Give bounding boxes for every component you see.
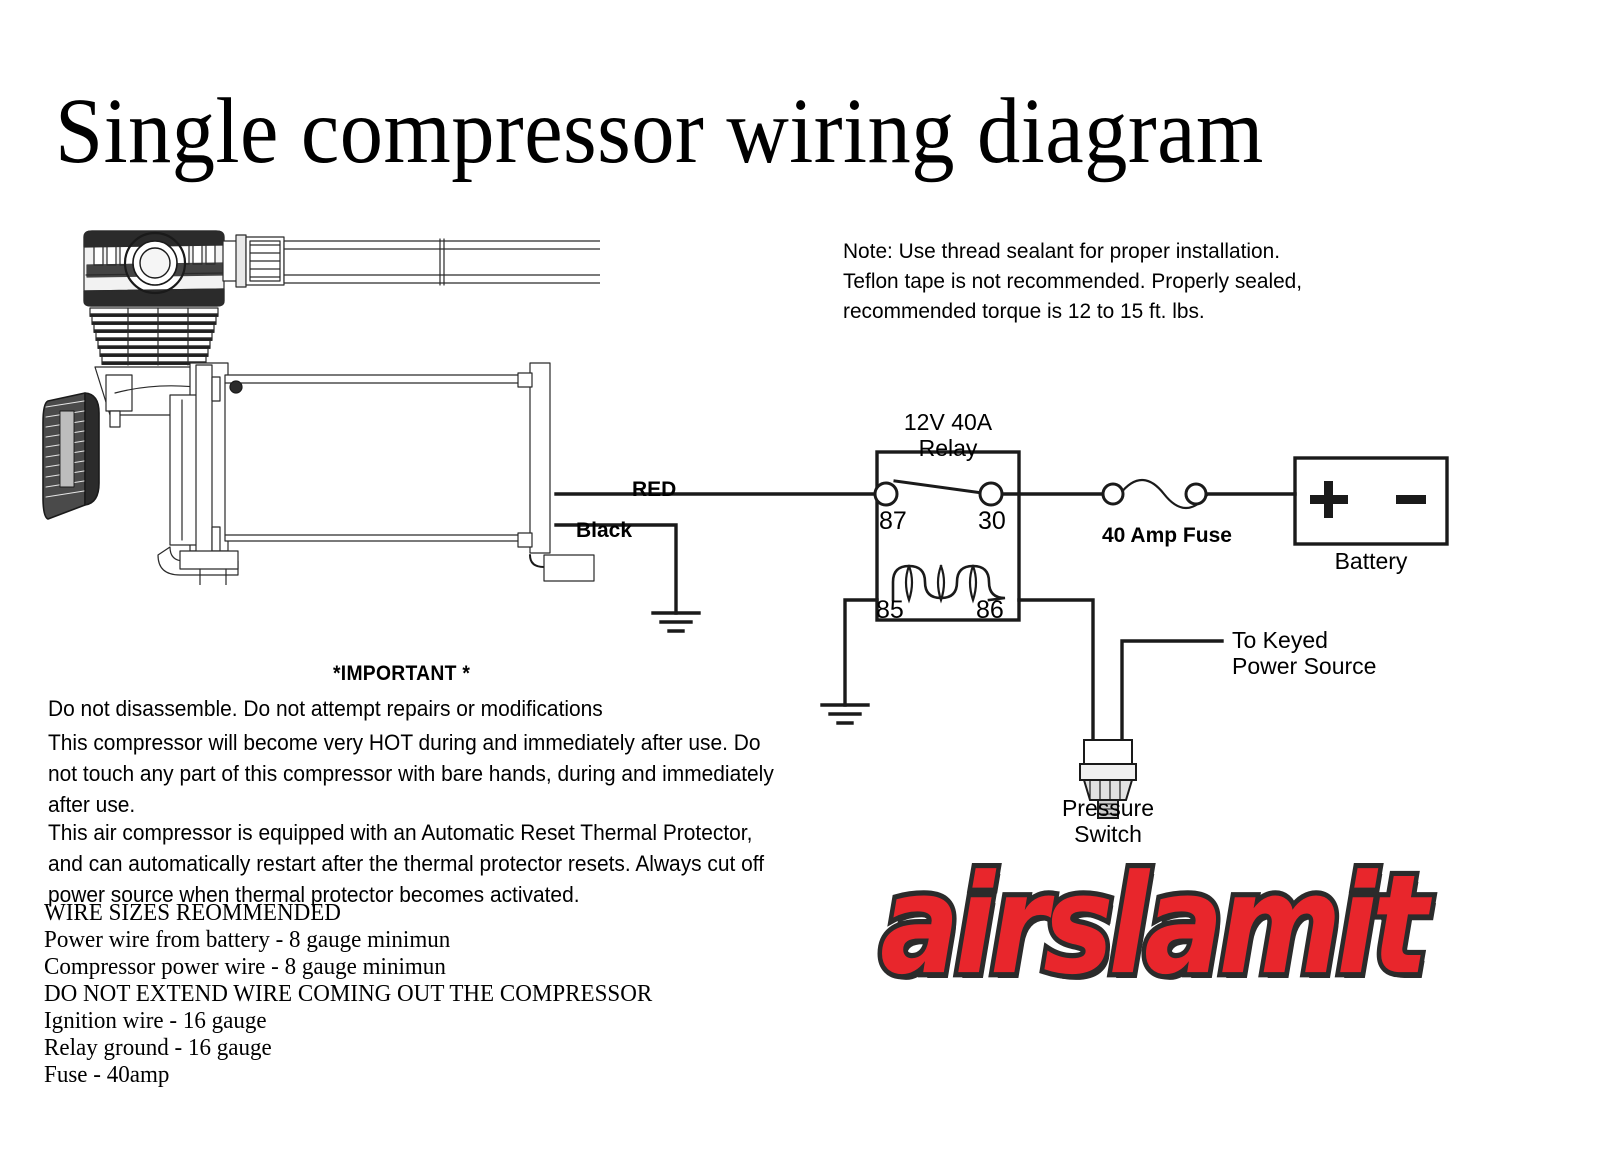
- fuse-terminal-right: [1186, 484, 1206, 504]
- wire-size-item-1: Power wire from battery - 8 gauge minimu…: [44, 927, 812, 954]
- wire-size-item-4: Ignition wire - 16 gauge: [44, 1008, 812, 1035]
- wire-size-item-5: Relay ground - 16 gauge: [44, 1035, 812, 1062]
- important-p3-line-1: This air compressor is equipped with an …: [48, 817, 866, 848]
- battery-label: Battery: [1295, 548, 1447, 575]
- pressure-switch-line-2: Switch: [1010, 821, 1206, 847]
- important-p3-line-2: and can automatically restart after the …: [48, 848, 866, 879]
- airslamit-logo-text: airslamit: [880, 855, 1540, 994]
- important-line-1: Do not disassemble. Do not attempt repai…: [48, 693, 885, 724]
- black-wire-label: Black: [576, 519, 632, 543]
- important-heading: *IMPORTANT *: [333, 662, 470, 686]
- relay-terminal-86-label: 86: [976, 596, 1004, 625]
- red-wire-label: RED: [632, 478, 676, 502]
- wire-sizes-block: WIRE SIZES REOMMENDED Power wire from ba…: [44, 900, 812, 1089]
- important-text: Do not disassemble. Do not attempt repai…: [48, 693, 885, 724]
- important-p2-line-3: after use.: [48, 789, 866, 820]
- wire-size-item-6: Fuse - 40amp: [44, 1062, 812, 1089]
- pressure-switch-line-1: Pressure: [1010, 795, 1206, 821]
- wire-size-item-2: Compressor power wire - 8 gauge minimun: [44, 954, 812, 981]
- relay-terminal-87-dot: [875, 483, 897, 505]
- relay-terminal-87-label: 87: [879, 507, 907, 536]
- battery-minus-symbol: [1396, 495, 1426, 504]
- relay-title-line-1: 12V 40A: [845, 409, 1051, 435]
- keyed-power-line-1: To Keyed: [1232, 627, 1376, 653]
- relay-terminal-30-dot: [980, 483, 1002, 505]
- wiring-diagram-page: Single compressor wiring diagram Note: U…: [0, 0, 1600, 1163]
- keyed-power-line-2: Power Source: [1232, 653, 1376, 679]
- relay-title-line-2: Relay: [845, 435, 1051, 461]
- relay-box: [877, 452, 1019, 620]
- pressure-switch-label: Pressure Switch: [1010, 795, 1206, 847]
- fuse-label: 40 Amp Fuse: [1102, 524, 1232, 548]
- important-paragraph-2: This compressor will become very HOT dur…: [48, 727, 866, 820]
- important-p2-line-2: not touch any part of this compressor wi…: [48, 758, 866, 789]
- fuse-terminal-left: [1103, 484, 1123, 504]
- important-paragraph-3: This air compressor is equipped with an …: [48, 817, 866, 910]
- important-p2-line-1: This compressor will become very HOT dur…: [48, 727, 866, 758]
- keyed-power-source-label: To Keyed Power Source: [1232, 627, 1376, 679]
- relay-terminal-85-label: 85: [876, 596, 904, 625]
- relay-title: 12V 40A Relay: [845, 409, 1051, 461]
- wire-size-item-3: DO NOT EXTEND WIRE COMING OUT THE COMPRE…: [44, 981, 812, 1008]
- wire-sizes-heading: WIRE SIZES REOMMENDED: [44, 900, 812, 927]
- relay-terminal-30-label: 30: [978, 507, 1006, 536]
- battery-plus-symbol: [1310, 481, 1348, 518]
- airslamit-logo: airslamit: [880, 855, 1540, 1005]
